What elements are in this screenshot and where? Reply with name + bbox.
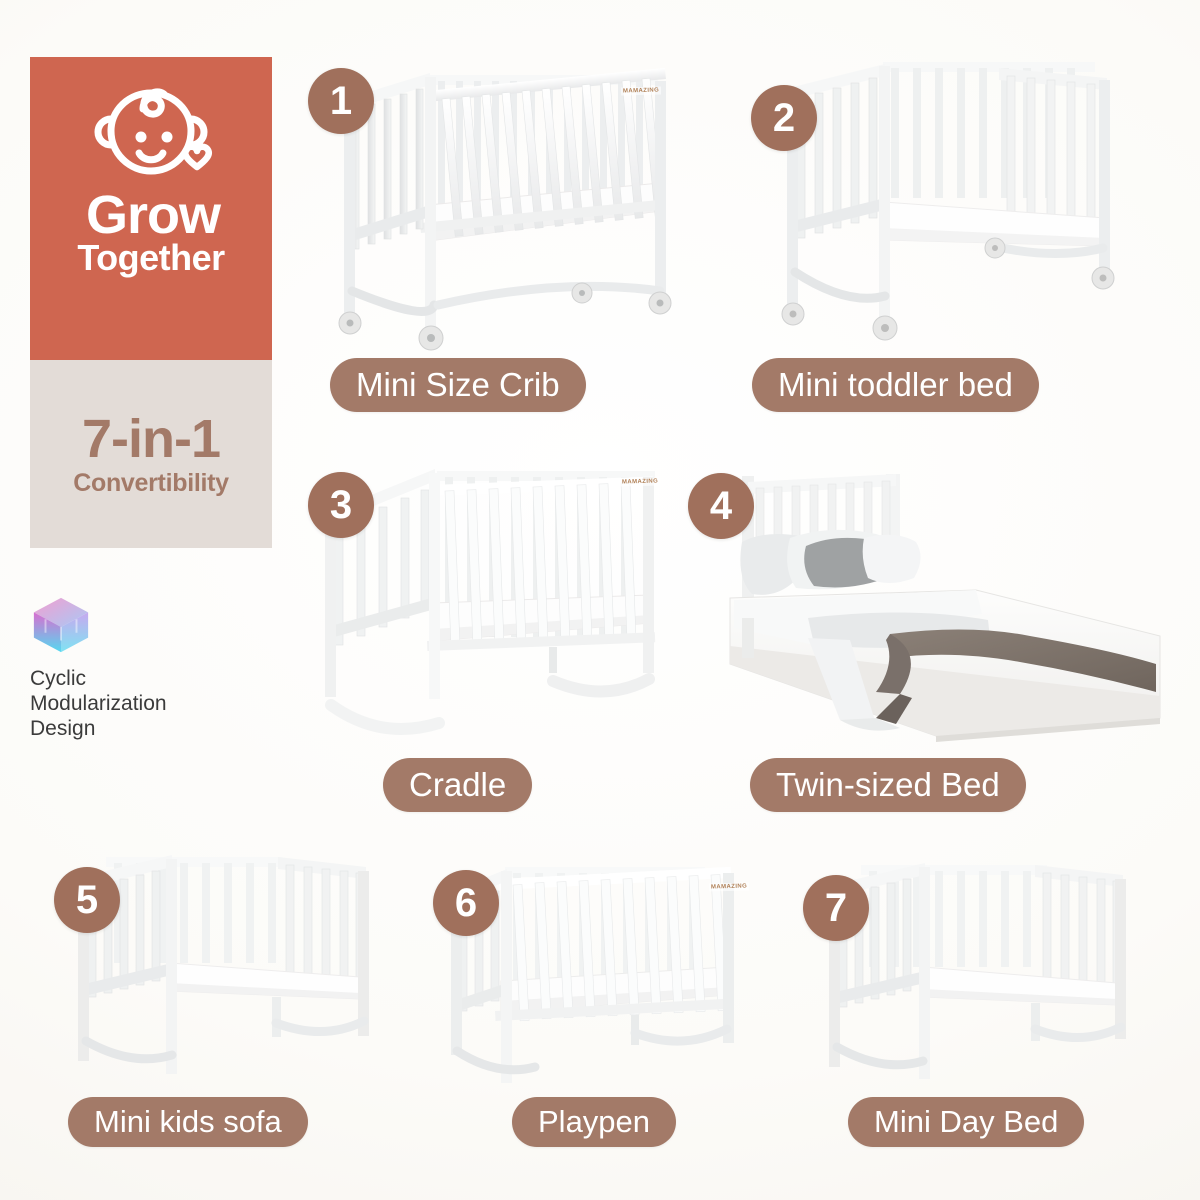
cyclic-modularization-block: Cyclic Modularization Design: [30, 594, 245, 741]
brand-title-grow: Grow: [30, 189, 272, 241]
product-photo-twin-bed: [690, 468, 1190, 750]
product-cell-3: MAMAZING 3: [305, 455, 680, 745]
product-badge-7: 7: [803, 875, 869, 941]
product-label-6[interactable]: Playpen: [512, 1097, 676, 1147]
product-cell-6: MAMAZING 6: [435, 855, 785, 1100]
product-label-5[interactable]: Mini kids sofa: [68, 1097, 308, 1147]
brand-sticker: MAMAZING: [621, 86, 661, 95]
brand-sticker: MAMAZING: [709, 882, 749, 891]
product-label-4[interactable]: Twin-sized Bed: [750, 758, 1026, 812]
product-cell-2: 2: [755, 50, 1135, 355]
product-badge-2: 2: [751, 85, 817, 151]
product-badge-1: 1: [308, 68, 374, 134]
product-badge-4: 4: [688, 473, 754, 539]
product-photo-mini-size-crib: [330, 55, 690, 355]
product-label-3[interactable]: Cradle: [383, 758, 532, 812]
brand-title-together: Together: [30, 239, 272, 277]
product-cell-7: 7: [805, 855, 1175, 1103]
product-badge-3: 3: [308, 472, 374, 538]
product-label-7[interactable]: Mini Day Bed: [848, 1097, 1084, 1147]
cyclic-text: Cyclic Modularization Design: [30, 666, 245, 741]
product-badge-6: 6: [433, 870, 499, 936]
product-badge-5: 5: [54, 867, 120, 933]
product-cell-5: 5: [60, 845, 430, 1100]
cyclic-line-1: Cyclic: [30, 666, 245, 691]
cyclic-line-3: Design: [30, 716, 245, 741]
convertibility-headline: 7-in-1: [82, 411, 220, 467]
convertibility-panel: 7-in-1 Convertibility: [30, 360, 272, 548]
brand-sticker: MAMAZING: [620, 477, 660, 486]
product-cell-1: MAMAZING 1: [330, 55, 690, 355]
product-cell-4: 4: [690, 468, 1190, 750]
convertibility-subhead: Convertibility: [73, 469, 229, 497]
product-label-1[interactable]: Mini Size Crib: [330, 358, 586, 412]
gradient-cube-icon: [30, 594, 92, 656]
product-label-2[interactable]: Mini toddler bed: [752, 358, 1039, 412]
baby-face-heart-icon: [87, 79, 215, 183]
cyclic-line-2: Modularization: [30, 691, 245, 716]
product-photo-mini-toddler-bed: [755, 50, 1135, 355]
brand-panel: Grow Together: [30, 57, 272, 360]
